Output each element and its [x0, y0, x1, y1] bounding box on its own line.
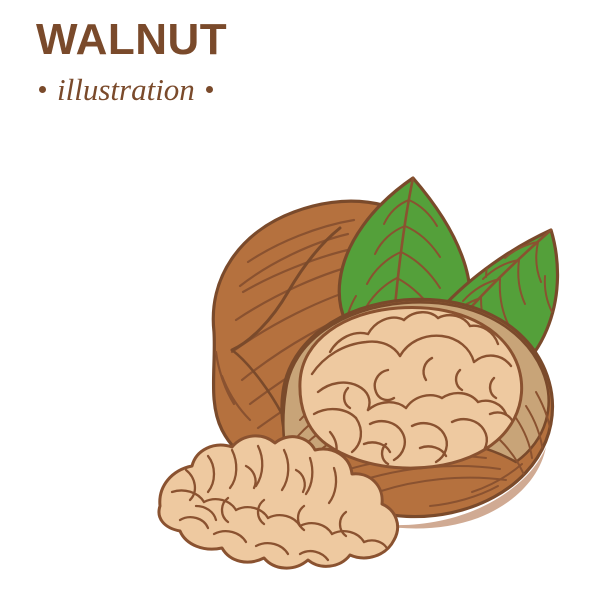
page-subtitle: illustration: [57, 74, 195, 105]
illustration-canvas: WALNUT illustration: [0, 0, 612, 612]
page-title: WALNUT: [36, 18, 296, 62]
dot-right-icon: [206, 86, 213, 93]
subtitle-row: illustration: [39, 74, 296, 105]
dot-left-icon: [39, 86, 46, 93]
title-block: WALNUT illustration: [36, 18, 296, 105]
